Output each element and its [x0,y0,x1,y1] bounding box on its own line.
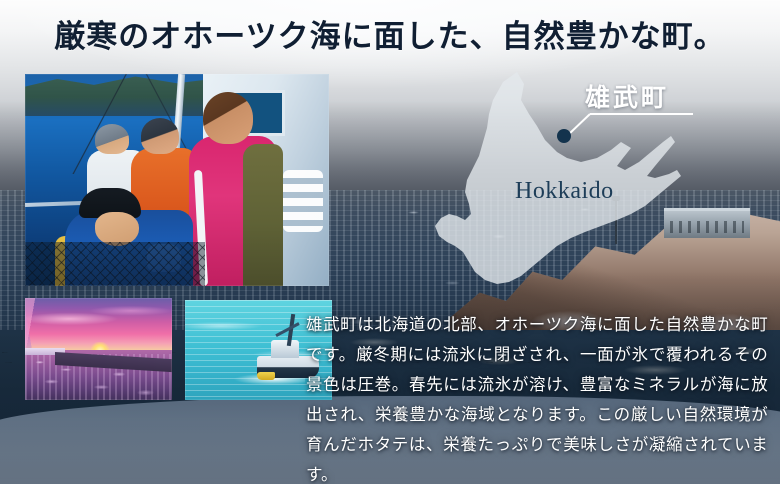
hokkaido-map: Hokkaido 雄武町 [425,66,715,306]
title-band: 厳寒のオホーツク海に面した、自然豊かな町。 [0,0,780,62]
promo-banner: 厳寒のオホーツク海に面した、自然豊かな町。 Hokkaido 雄武町 [0,0,780,484]
photo-drift-ice-sunset [25,298,172,400]
photo-sunset-border [25,298,172,400]
map-marker-leader [425,66,715,306]
photo-fishermen-border [25,74,329,286]
page-title: 厳寒のオホーツク海に面した、自然豊かな町。 [0,11,780,56]
body-description: 雄武町は北海道の北部、オホーツク海に面した自然豊かな町です。厳冬期には流氷に閉ざ… [306,310,768,484]
map-label-oumu: 雄武町 [585,78,669,114]
photo-fishermen [25,74,329,286]
map-marker-dot [557,129,571,143]
